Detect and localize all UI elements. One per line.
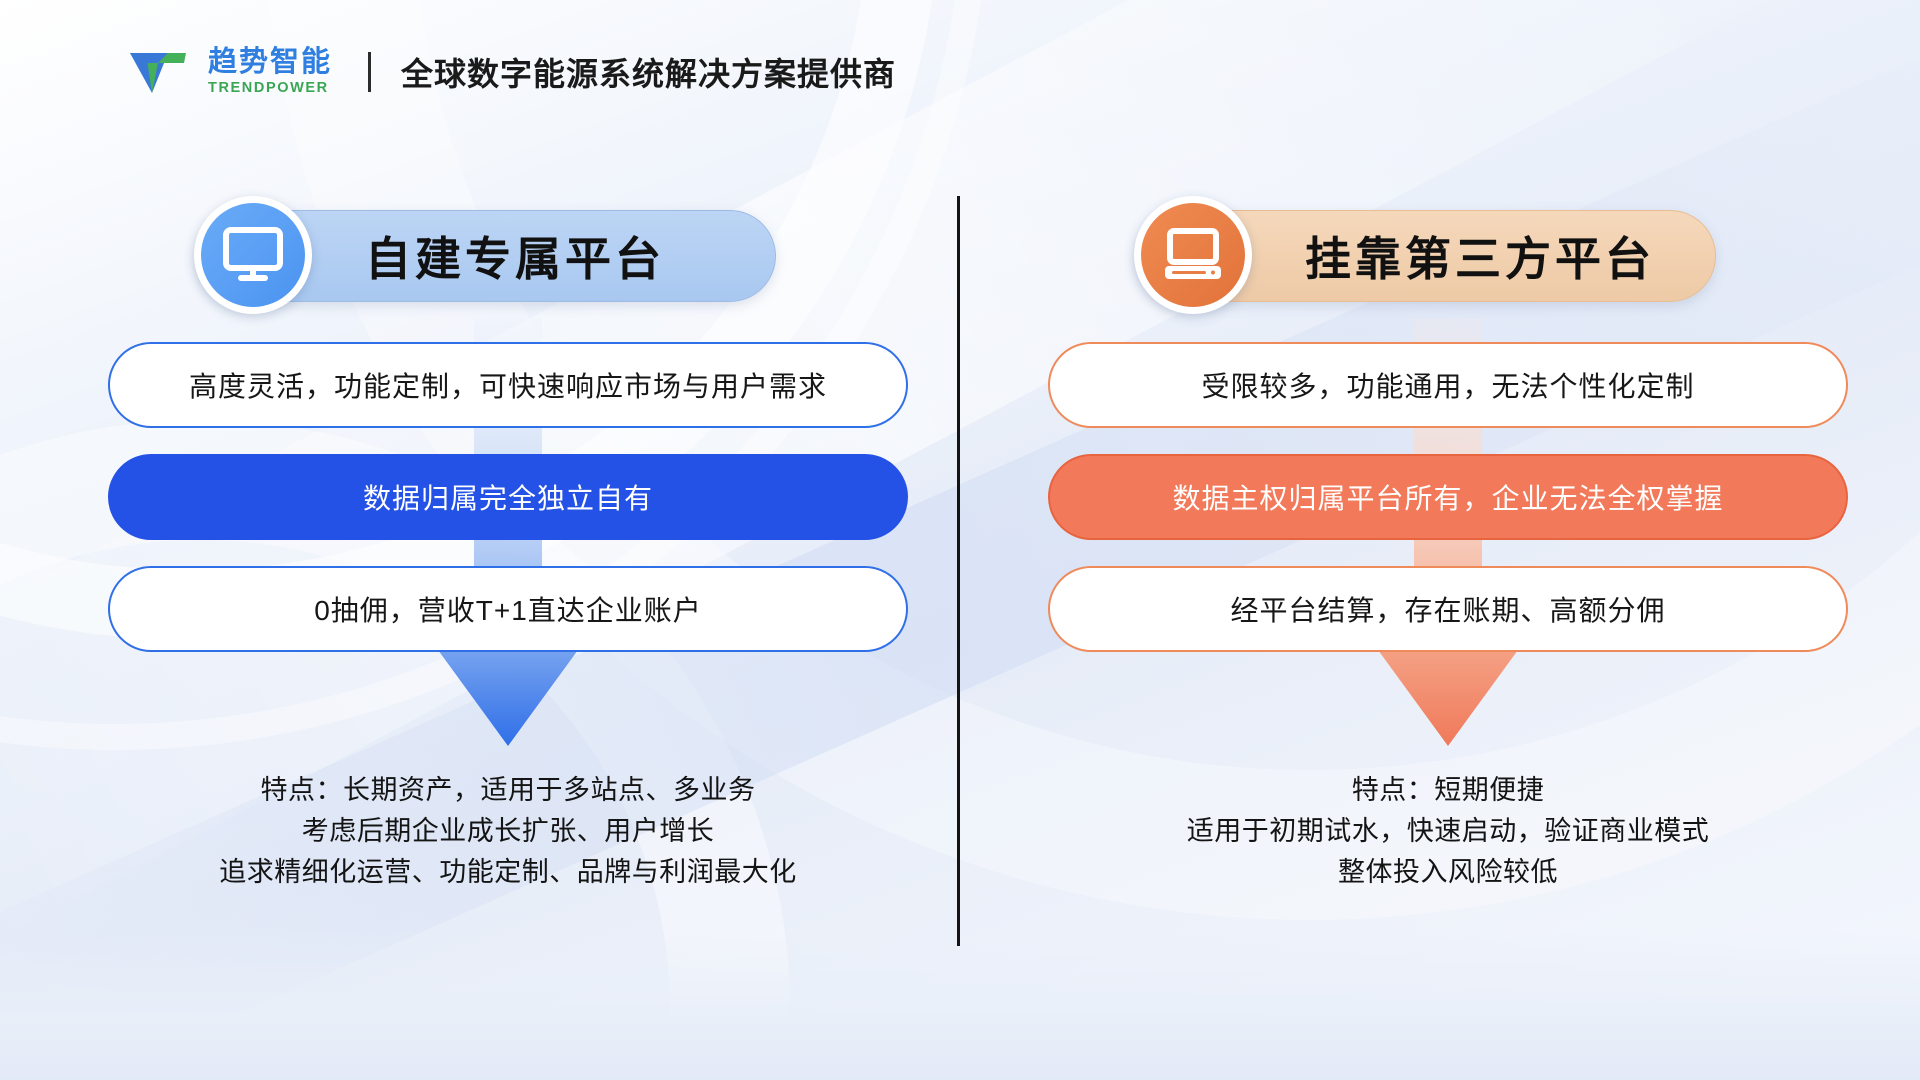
feature-list-third-party: 受限较多，功能通用，无法个性化定制 数据主权归属平台所有，企业无法全权掌握 经平…: [1048, 342, 1848, 652]
feature-pill-text: 经平台结算，存在账期、高额分佣: [1230, 589, 1665, 629]
footnote-line: 适用于初期试水，快速启动，验证商业模式: [1048, 811, 1848, 852]
feature-pill[interactable]: 高度灵活，功能定制，可快速响应市场与用户需求: [108, 342, 908, 428]
footnote-line: 特点：长期资产，适用于多站点、多业务: [108, 770, 908, 811]
feature-pill-text: 受限较多，功能通用，无法个性化定制: [1201, 365, 1694, 405]
footnote-line: 整体投入风险较低: [1048, 852, 1848, 893]
background-bottom-fade: [0, 930, 1920, 1080]
column-header-self-built: 自建专属平台: [108, 196, 908, 314]
feature-pill[interactable]: 经平台结算，存在账期、高额分佣: [1048, 566, 1848, 652]
column-third-party: 挂靠第三方平台: [1048, 196, 1848, 893]
feature-pill-text: 0抽佣，营收T+1直达企业账户: [314, 589, 702, 629]
page-title: 全球数字能源系统解决方案提供商: [401, 49, 896, 95]
trendpower-logo-icon: [128, 49, 188, 95]
logo-chinese-name: 趋势智能: [208, 48, 332, 77]
footnote-line: 考虑后期企业成长扩张、用户增长: [108, 811, 908, 852]
header-divider: [368, 52, 371, 92]
footnote-self-built: 特点：长期资产，适用于多站点、多业务 考虑后期企业成长扩张、用户增长 追求精细化…: [108, 770, 908, 893]
column-separator: [957, 196, 960, 946]
footnote-third-party: 特点：短期便捷 适用于初期试水，快速启动，验证商业模式 整体投入风险较低: [1048, 770, 1848, 893]
feature-pill[interactable]: 数据归属完全独立自有: [108, 454, 908, 540]
feature-pill[interactable]: 受限较多，功能通用，无法个性化定制: [1048, 342, 1848, 428]
column-title-text: 自建专属平台: [365, 223, 665, 289]
feature-list-self-built: 高度灵活，功能定制，可快速响应市场与用户需求 数据归属完全独立自有 0抽佣，营收…: [108, 342, 908, 652]
desktop-monitor-icon: [194, 196, 312, 314]
column-title-text: 挂靠第三方平台: [1305, 223, 1655, 289]
page-header: 趋势智能 TRENDPOWER 全球数字能源系统解决方案提供商: [128, 48, 896, 96]
logo-english-name: TRENDPOWER: [208, 81, 332, 96]
feature-pill[interactable]: 数据主权归属平台所有，企业无法全权掌握: [1048, 454, 1848, 540]
feature-pill-text: 高度灵活，功能定制，可快速响应市场与用户需求: [189, 365, 827, 405]
feature-pill-text: 数据归属完全独立自有: [363, 477, 653, 517]
footnote-line: 特点：短期便捷: [1048, 770, 1848, 811]
feature-pill[interactable]: 0抽佣，营收T+1直达企业账户: [108, 566, 908, 652]
logo-wordmark: 趋势智能 TRENDPOWER: [208, 48, 332, 96]
column-header-third-party: 挂靠第三方平台: [1048, 196, 1848, 314]
feature-pill-text: 数据主权归属平台所有，企业无法全权掌握: [1172, 477, 1723, 517]
laptop-icon: [1134, 196, 1252, 314]
column-self-built: 自建专属平台: [108, 196, 908, 893]
footnote-line: 追求精细化运营、功能定制、品牌与利润最大化: [108, 852, 908, 893]
